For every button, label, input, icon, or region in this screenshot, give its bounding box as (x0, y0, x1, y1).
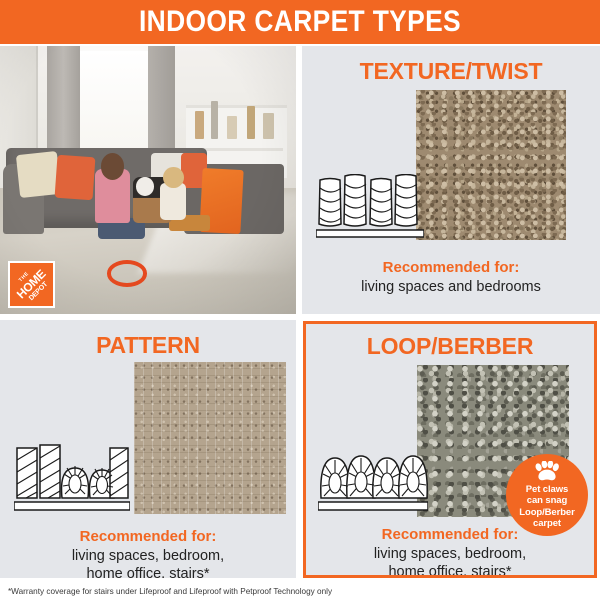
paw-print-icon (534, 461, 560, 482)
recommendation-loop-berber: Recommended for: living spaces, bedroom,… (306, 526, 594, 578)
pet-badge-text: Pet claws can snag Loop/Berber carpet (519, 484, 574, 529)
page-title: INDOOR CARPET TYPES (139, 7, 461, 37)
panel-title-pattern: PATTERN (0, 334, 296, 357)
rec-text: living spaces, bedroom, home office, sta… (306, 545, 594, 578)
rec-label: Recommended for: (306, 526, 594, 545)
pattern-carpet-swatch (134, 362, 286, 514)
footnote-warranty: *Warranty coverage for stairs under Life… (8, 587, 332, 597)
panel-texture-twist: TEXTURE/TWIST Recommended for: living sp… (302, 46, 600, 314)
rec-text: living spaces and bedrooms (302, 278, 600, 297)
home-depot-logo: THE HOME DEPOT (8, 261, 55, 308)
recommendation-pattern: Recommended for: living spaces, bedroom,… (0, 528, 296, 578)
panel-loop-berber: LOOP/BERBER (303, 321, 597, 578)
panel-title-loop-berber: LOOP/BERBER (306, 335, 594, 358)
rec-text: living spaces, bedroom, home office, sta… (0, 547, 296, 578)
infographic-root: INDOOR CARPET TYPES (0, 0, 600, 600)
texture-twist-carpet-swatch (416, 90, 566, 240)
pattern-fiber-diagram (14, 444, 130, 516)
pet-warning-badge: Pet claws can snag Loop/Berber carpet (506, 454, 588, 536)
recommendation-texture-twist: Recommended for: living spaces and bedro… (302, 259, 600, 296)
rec-label: Recommended for: (302, 259, 600, 278)
living-room-photo-panel: THE HOME DEPOT (0, 46, 296, 314)
rec-label: Recommended for: (0, 528, 296, 547)
header-banner: INDOOR CARPET TYPES (0, 0, 600, 44)
panel-pattern: PATTERN Re (0, 320, 296, 578)
panel-title-texture-twist: TEXTURE/TWIST (302, 60, 600, 83)
texture-twist-fiber-diagram (316, 174, 424, 242)
loop-berber-fiber-diagram (318, 446, 428, 516)
